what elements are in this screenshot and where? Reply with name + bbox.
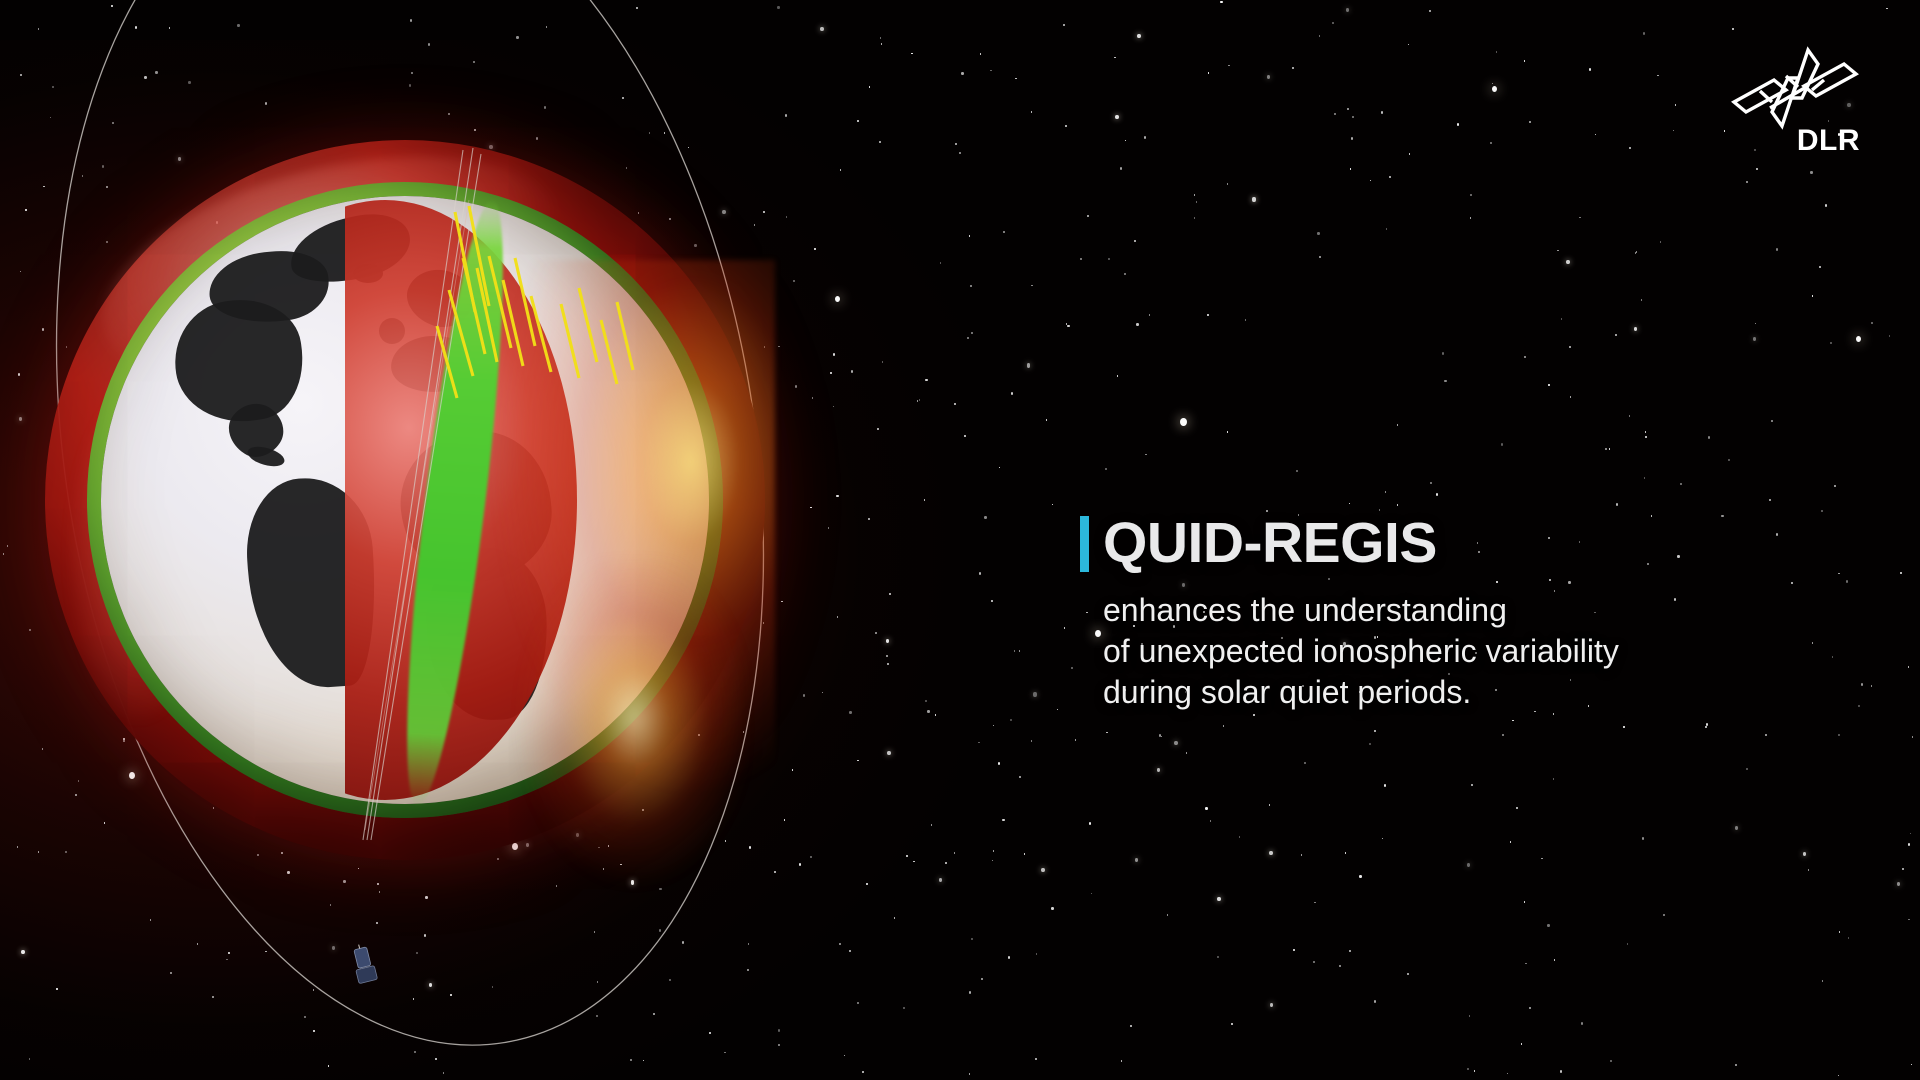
star <box>1501 443 1503 446</box>
star <box>1027 363 1031 367</box>
earth-surface <box>101 196 709 804</box>
star <box>1589 68 1591 71</box>
star <box>1492 83 1494 85</box>
star <box>1900 572 1902 574</box>
description-line-3: during solar quiet periods. <box>1103 672 1840 713</box>
star <box>1108 258 1110 261</box>
star <box>328 1065 330 1067</box>
star <box>1548 384 1550 386</box>
star <box>1208 72 1210 74</box>
star <box>1389 176 1391 178</box>
star <box>1293 949 1295 951</box>
star <box>969 235 971 237</box>
star <box>1019 650 1021 652</box>
title-row: QUID-REGIS <box>1080 516 1840 572</box>
star <box>1644 477 1646 479</box>
star <box>1067 325 1069 328</box>
star <box>1227 183 1229 185</box>
star <box>1031 111 1033 113</box>
star <box>1117 375 1119 377</box>
bright-star <box>1856 336 1861 342</box>
star <box>1871 685 1873 687</box>
star <box>1019 776 1021 778</box>
star <box>1031 740 1033 742</box>
star <box>964 435 966 437</box>
star <box>1124 273 1126 275</box>
star <box>1642 837 1644 840</box>
star <box>1735 826 1739 830</box>
landmass-south-america <box>242 474 382 692</box>
star <box>1496 51 1498 53</box>
star <box>954 403 956 406</box>
landmass-iceland <box>353 264 383 283</box>
star <box>1010 719 1012 721</box>
star <box>1301 854 1303 856</box>
star <box>993 850 995 852</box>
star <box>1332 22 1334 24</box>
star <box>1313 961 1315 963</box>
star <box>993 725 995 727</box>
star <box>1035 1058 1037 1061</box>
star <box>1370 180 1372 182</box>
star <box>1566 260 1570 264</box>
star <box>1605 448 1607 450</box>
star <box>1014 650 1016 652</box>
star <box>1436 493 1438 496</box>
dlr-logo: DLR <box>1730 46 1860 156</box>
star <box>1735 1064 1737 1066</box>
star <box>1227 431 1229 433</box>
star <box>1470 194 1472 196</box>
star <box>1346 8 1350 12</box>
star <box>961 72 963 75</box>
star <box>981 978 983 980</box>
star <box>1908 843 1910 846</box>
star <box>1547 924 1549 927</box>
star <box>1036 953 1038 955</box>
star <box>1033 692 1037 696</box>
star <box>1205 807 1207 810</box>
star <box>844 1055 846 1057</box>
star <box>1657 75 1659 77</box>
illustration-scene: DLR QUID-REGIS enhances the understandin… <box>0 0 1920 1080</box>
star <box>1220 1 1222 4</box>
star <box>1834 485 1836 487</box>
star <box>1524 901 1526 903</box>
star <box>1910 833 1912 835</box>
star <box>1345 852 1347 854</box>
star <box>1057 709 1059 711</box>
star <box>1776 248 1778 251</box>
star <box>1317 232 1319 235</box>
star <box>1334 113 1336 115</box>
earth-globe-cutaway <box>45 140 765 860</box>
star <box>1231 1023 1233 1025</box>
star <box>1673 130 1675 132</box>
star <box>1616 503 1618 506</box>
star <box>1125 140 1127 142</box>
star <box>435 1058 437 1060</box>
star <box>1350 168 1352 170</box>
star <box>1051 907 1053 910</box>
star <box>1469 1015 1471 1017</box>
star <box>1680 483 1682 485</box>
star <box>967 337 969 339</box>
star <box>1490 142 1492 144</box>
star <box>1196 201 1198 203</box>
star <box>990 70 992 72</box>
star <box>1252 197 1256 201</box>
star <box>1610 1060 1612 1062</box>
star <box>1385 491 1387 493</box>
star <box>1145 454 1147 456</box>
star <box>1011 392 1013 395</box>
star <box>1557 250 1559 252</box>
star <box>1217 897 1221 901</box>
star <box>1351 137 1353 140</box>
star <box>1579 217 1581 219</box>
star <box>1296 470 1298 472</box>
star <box>1008 956 1010 959</box>
star <box>1645 431 1647 433</box>
star <box>1407 973 1409 975</box>
bright-star <box>1492 86 1497 92</box>
star <box>1347 108 1349 110</box>
star <box>1349 503 1351 505</box>
star <box>1886 8 1888 10</box>
star <box>1912 736 1914 738</box>
landmass-british-isles <box>379 318 405 344</box>
star <box>1359 875 1361 878</box>
star <box>971 938 973 941</box>
star <box>1708 436 1710 439</box>
star <box>935 714 937 716</box>
star <box>1803 852 1807 856</box>
star <box>1106 732 1108 734</box>
star <box>1444 380 1446 383</box>
star <box>1115 115 1119 119</box>
star <box>1838 734 1840 736</box>
star <box>1352 116 1354 118</box>
star <box>1137 34 1141 38</box>
star <box>1374 1000 1376 1003</box>
star <box>643 1060 645 1062</box>
star <box>1382 838 1384 840</box>
star <box>1755 323 1757 325</box>
star <box>1812 295 1814 297</box>
star <box>969 991 971 994</box>
star <box>1408 44 1410 46</box>
orbiting-satellite <box>341 938 387 994</box>
star <box>1615 334 1617 336</box>
star <box>630 1059 632 1061</box>
star <box>1636 251 1638 253</box>
star <box>1071 667 1073 669</box>
star <box>1217 956 1219 959</box>
star <box>1339 965 1341 967</box>
star <box>980 53 982 55</box>
star <box>1031 285 1033 287</box>
star <box>1819 266 1821 268</box>
star <box>1525 963 1527 965</box>
star <box>954 852 956 854</box>
star <box>1897 882 1901 886</box>
star <box>1134 240 1136 242</box>
star <box>1521 1043 1523 1045</box>
star <box>1825 204 1827 207</box>
star <box>1024 853 1026 855</box>
star <box>1041 868 1045 872</box>
star <box>1908 666 1910 668</box>
star <box>1397 424 1399 426</box>
star <box>1080 258 1082 260</box>
star <box>1210 820 1212 822</box>
dlr-star-icon <box>1730 46 1860 130</box>
star <box>1430 482 1432 485</box>
star <box>969 1073 971 1075</box>
landmass-europe <box>389 333 477 395</box>
star <box>1194 194 1196 196</box>
star <box>1149 314 1151 316</box>
star <box>1087 215 1089 217</box>
star <box>1529 121 1531 123</box>
star <box>1429 10 1431 12</box>
star <box>1569 346 1571 348</box>
star <box>1089 822 1091 825</box>
star <box>924 499 926 501</box>
star <box>1705 726 1707 728</box>
star <box>1228 65 1230 67</box>
star <box>1052 504 1054 506</box>
star <box>1643 32 1645 35</box>
star <box>1634 327 1638 331</box>
star <box>1075 739 1077 741</box>
landmass-south-africa <box>424 546 550 722</box>
star <box>1839 931 1841 933</box>
star <box>1771 420 1773 422</box>
star <box>1319 256 1321 258</box>
star <box>1269 851 1273 855</box>
star <box>1561 318 1563 320</box>
star <box>1442 352 1444 355</box>
star <box>1732 28 1734 30</box>
star <box>1560 1070 1562 1073</box>
star <box>1821 510 1823 512</box>
star <box>999 467 1001 469</box>
description-line-1: enhances the understanding <box>1103 590 1840 631</box>
star <box>1507 1073 1509 1075</box>
landmass-caribbean <box>245 443 286 470</box>
star <box>1660 241 1662 243</box>
star <box>978 742 980 744</box>
star <box>1581 1022 1583 1025</box>
dlr-wordmark: DLR <box>1797 126 1860 156</box>
star <box>1769 499 1771 501</box>
star <box>1207 314 1209 316</box>
star <box>1595 134 1597 136</box>
star <box>1889 335 1891 337</box>
star <box>1474 1070 1476 1072</box>
star <box>1512 720 1514 722</box>
star <box>1136 323 1138 326</box>
star <box>939 878 943 882</box>
star <box>414 1051 416 1053</box>
star <box>991 600 993 603</box>
star <box>1629 415 1631 417</box>
star <box>1046 419 1048 421</box>
star <box>1516 807 1518 809</box>
star <box>1810 171 1812 174</box>
description-line-2: of unexpected ionospheric variability <box>1103 631 1840 672</box>
star <box>1524 356 1526 358</box>
landmass-scandinavia <box>399 260 481 337</box>
star <box>1369 743 1371 745</box>
star <box>1239 836 1241 838</box>
star <box>862 1071 864 1073</box>
star <box>1114 57 1116 59</box>
star <box>1467 863 1471 867</box>
bright-star <box>1180 418 1187 426</box>
star <box>1174 741 1178 745</box>
star <box>1663 914 1665 916</box>
star <box>971 332 973 334</box>
star <box>1846 580 1848 583</box>
star <box>1822 980 1824 982</box>
star <box>1570 396 1572 398</box>
star <box>1130 1025 1132 1027</box>
star <box>1135 858 1139 862</box>
star <box>1675 104 1677 106</box>
star <box>945 862 947 864</box>
star <box>1167 914 1169 916</box>
star <box>1065 125 1067 127</box>
star <box>1003 231 1005 233</box>
star <box>1157 768 1161 772</box>
star <box>1467 1068 1469 1070</box>
star <box>1746 768 1748 770</box>
star <box>1409 153 1411 155</box>
star <box>1457 123 1459 126</box>
star <box>955 143 957 145</box>
star <box>1554 959 1556 961</box>
page-title: QUID-REGIS <box>1103 516 1437 572</box>
star <box>1063 24 1065 26</box>
star <box>1269 804 1271 806</box>
star <box>1270 1003 1274 1007</box>
star <box>984 516 986 519</box>
star <box>1381 111 1383 114</box>
star <box>1161 736 1163 738</box>
star <box>940 262 942 264</box>
star <box>1609 448 1611 450</box>
star <box>1091 893 1093 895</box>
star <box>1002 819 1004 822</box>
star <box>1871 322 1873 324</box>
star <box>1627 943 1629 945</box>
star <box>1623 726 1625 728</box>
star <box>1374 730 1376 732</box>
star <box>1015 78 1017 80</box>
star <box>1384 784 1386 787</box>
star <box>1292 67 1294 69</box>
star <box>1223 725 1225 727</box>
star <box>1386 228 1388 230</box>
star <box>1144 136 1146 139</box>
project-description: enhances the understanding of unexpected… <box>1103 590 1840 713</box>
star <box>1194 217 1196 219</box>
star <box>1756 168 1758 171</box>
star <box>1728 459 1730 461</box>
star <box>1470 217 1472 219</box>
star <box>1753 337 1757 341</box>
star <box>1186 752 1188 754</box>
star <box>1253 714 1255 716</box>
star <box>979 572 981 575</box>
star <box>959 152 961 154</box>
star <box>1245 319 1247 321</box>
star <box>1808 869 1810 871</box>
star <box>1861 683 1863 686</box>
star <box>443 1072 445 1074</box>
star <box>1121 1060 1123 1062</box>
star <box>1471 784 1473 786</box>
star <box>1105 468 1107 470</box>
star <box>1746 181 1748 183</box>
star <box>927 710 929 713</box>
star <box>1349 950 1351 953</box>
star <box>1397 504 1399 506</box>
star <box>970 285 972 287</box>
star <box>931 824 933 826</box>
star <box>925 379 927 382</box>
star <box>1908 919 1910 921</box>
star <box>1724 130 1726 132</box>
star <box>1830 342 1832 344</box>
star <box>1553 713 1555 715</box>
star <box>1319 35 1321 37</box>
star <box>29 1058 31 1060</box>
star <box>992 860 994 862</box>
star <box>1645 436 1647 438</box>
star <box>1858 705 1860 707</box>
project-text-block: QUID-REGIS enhances the understanding of… <box>1080 516 1840 713</box>
star <box>1510 841 1512 843</box>
star <box>925 700 927 703</box>
star <box>1524 60 1526 62</box>
star <box>1064 627 1066 629</box>
star <box>1765 734 1767 736</box>
star <box>1911 1064 1913 1066</box>
star <box>1314 902 1316 904</box>
star <box>1120 167 1122 170</box>
star <box>1553 778 1555 780</box>
star <box>1706 723 1708 726</box>
title-accent-bar <box>1080 516 1089 572</box>
star <box>1641 299 1643 301</box>
star <box>998 762 1000 765</box>
star <box>1629 147 1631 149</box>
star <box>1848 937 1850 939</box>
star <box>1902 868 1904 870</box>
star <box>1304 762 1306 764</box>
star <box>1502 734 1504 736</box>
star <box>1267 75 1271 79</box>
star <box>724 1052 726 1054</box>
star <box>1838 1075 1840 1077</box>
star <box>1529 1007 1531 1009</box>
star <box>1541 858 1543 860</box>
